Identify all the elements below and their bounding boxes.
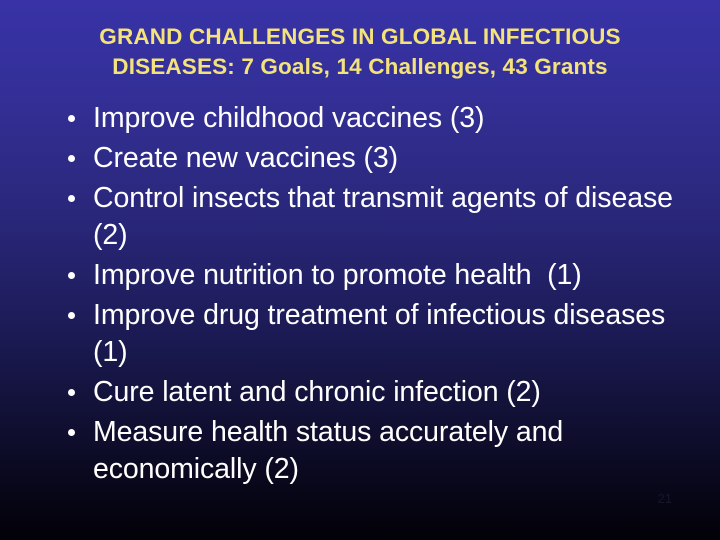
- bullet-dot-icon: [68, 429, 75, 436]
- bullet-dot-icon: [68, 115, 75, 122]
- list-item: Improve childhood vaccines (3): [60, 100, 700, 137]
- list-item: Cure latent and chronic infection (2): [60, 374, 700, 411]
- bullet-list: Improve childhood vaccines (3) Create ne…: [60, 100, 700, 491]
- list-item: Improve nutrition to promote health (1): [60, 257, 700, 294]
- slide-title: GRAND CHALLENGES IN GLOBAL INFECTIOUS DI…: [40, 22, 680, 82]
- bullet-dot-icon: [68, 272, 75, 279]
- title-line-2: DISEASES: 7 Goals, 14 Challenges, 43 Gra…: [40, 52, 680, 82]
- list-item: Measure health status accurately and eco…: [60, 414, 700, 488]
- bullet-dot-icon: [68, 389, 75, 396]
- list-item: Create new vaccines (3): [60, 140, 700, 177]
- bullet-dot-icon: [68, 312, 75, 319]
- slide-canvas: GRAND CHALLENGES IN GLOBAL INFECTIOUS DI…: [0, 0, 720, 540]
- list-item-label: Improve drug treatment of infectious dis…: [93, 299, 673, 368]
- list-item-label: Control insects that transmit agents of …: [93, 182, 681, 251]
- list-item-label: Measure health status accurately and eco…: [93, 416, 571, 485]
- list-item-label: Improve nutrition to promote health (1): [93, 259, 582, 291]
- list-item: Control insects that transmit agents of …: [60, 180, 700, 254]
- bullet-dot-icon: [68, 155, 75, 162]
- page-number: 21: [658, 492, 672, 506]
- list-item: Improve drug treatment of infectious dis…: [60, 297, 700, 371]
- list-item-label: Cure latent and chronic infection (2): [93, 376, 541, 408]
- title-line-1: GRAND CHALLENGES IN GLOBAL INFECTIOUS: [40, 22, 680, 52]
- list-item-label: Create new vaccines (3): [93, 142, 398, 174]
- bullet-dot-icon: [68, 195, 75, 202]
- list-item-label: Improve childhood vaccines (3): [93, 102, 484, 134]
